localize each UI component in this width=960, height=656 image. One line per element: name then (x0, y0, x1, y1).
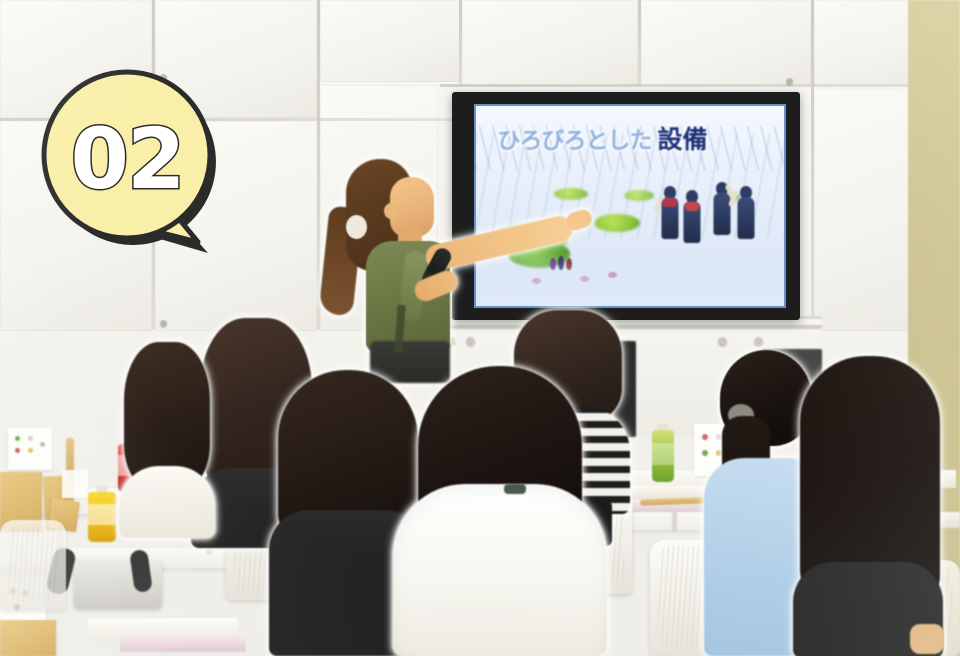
attendee-torso (393, 484, 607, 656)
slide-figure (710, 182, 734, 246)
sample-card (8, 428, 52, 470)
slide-title-light: ひろびろとした (498, 121, 652, 155)
credenza-knob[interactable] (754, 337, 763, 346)
slide-figure (680, 190, 704, 250)
paper-spread (88, 618, 238, 638)
attendee-front-center (392, 366, 608, 656)
cabinet-panel (641, 0, 811, 86)
badge-bubble (44, 72, 210, 242)
seminar-photo: ひろびろとした 設備 (0, 0, 960, 656)
slide-figure (734, 186, 758, 248)
slide-title-dark: 設備 (658, 120, 708, 156)
cabinet-seam (440, 84, 920, 87)
attendee-right-long (792, 356, 944, 656)
paper-spread (120, 636, 246, 652)
cabinet-panel (462, 0, 638, 86)
attendee-torso (119, 466, 215, 538)
collar-accent (504, 484, 526, 494)
cabinet-knob[interactable] (786, 78, 793, 85)
cabinet-panel (320, 0, 460, 82)
presenter-hair-tie (346, 215, 367, 239)
cabinet-seam (459, 0, 462, 86)
attendee-arm (910, 624, 944, 654)
cabinet-knob[interactable] (160, 320, 167, 327)
cabinet-seam (638, 0, 641, 86)
slide-figure (658, 186, 682, 248)
slide-foliage (594, 214, 640, 232)
presenter-ear (384, 203, 398, 219)
credenza-knob[interactable] (718, 337, 727, 346)
attendee-back-left-2 (118, 338, 216, 538)
cabinet-panel (814, 0, 910, 86)
cabinet-seam (811, 0, 814, 330)
slide-foliage (624, 190, 654, 201)
chair (0, 520, 66, 610)
sample-card (62, 470, 88, 498)
yellow-bottle (88, 486, 116, 542)
wooden-display-board (0, 620, 56, 656)
step-number-badge: 02 (42, 70, 228, 260)
green-tea-bottle (652, 424, 674, 482)
cabinet-panel (814, 89, 910, 331)
